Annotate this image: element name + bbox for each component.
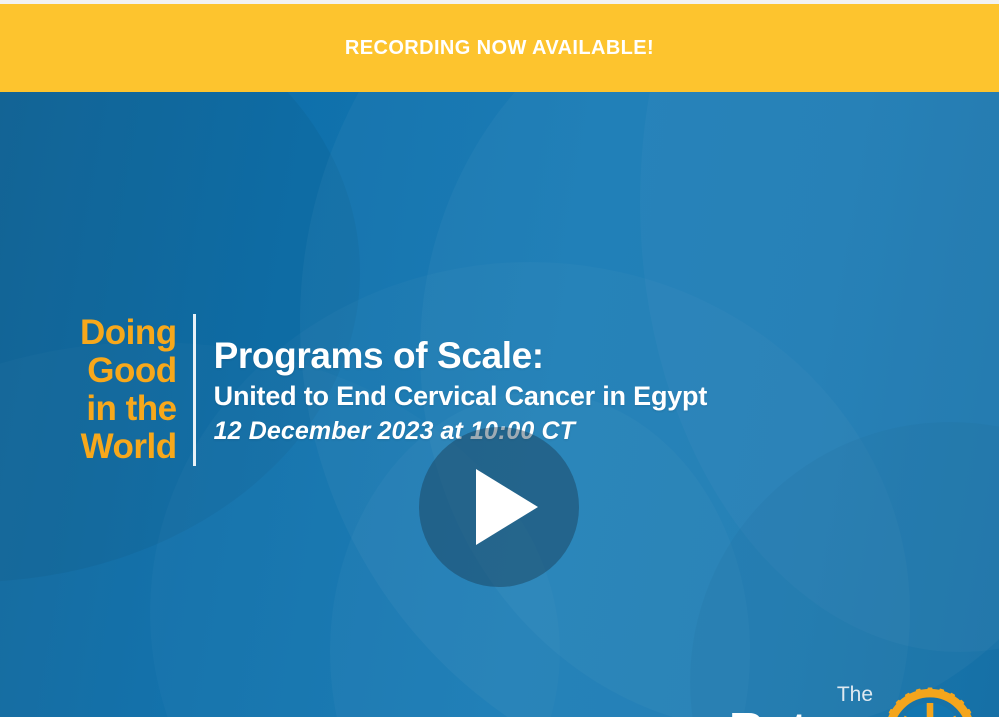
rotary-wordmark: The Rotary Foundation	[729, 684, 875, 717]
vertical-divider	[193, 314, 196, 466]
tagline-line-4: World	[80, 428, 177, 466]
play-triangle-icon	[476, 469, 538, 545]
logo-the-text: The	[837, 684, 873, 706]
logo-rotary-text: Rotary	[729, 706, 875, 717]
program-subtitle: United to End Cervical Cancer in Egypt	[214, 378, 708, 414]
tagline-line-2: Good	[80, 352, 177, 390]
play-button[interactable]	[419, 427, 579, 587]
title-lockup: Doing Good in the World Programs of Scal…	[80, 314, 707, 466]
tagline-line-3: in the	[80, 390, 177, 428]
page-root: RECORDING NOW AVAILABLE! Doing Good in t…	[0, 0, 999, 717]
program-title: Programs of Scale:	[214, 334, 708, 378]
announcement-banner-text: RECORDING NOW AVAILABLE!	[345, 38, 654, 58]
campaign-tagline: Doing Good in the World	[80, 314, 193, 466]
tagline-line-1: Doing	[80, 314, 177, 352]
rotary-wheel-icon	[883, 687, 977, 717]
announcement-banner: RECORDING NOW AVAILABLE!	[0, 4, 999, 92]
video-player-thumbnail[interactable]: Doing Good in the World Programs of Scal…	[0, 92, 999, 717]
rotary-foundation-logo: The Rotary Foundation	[729, 684, 977, 717]
